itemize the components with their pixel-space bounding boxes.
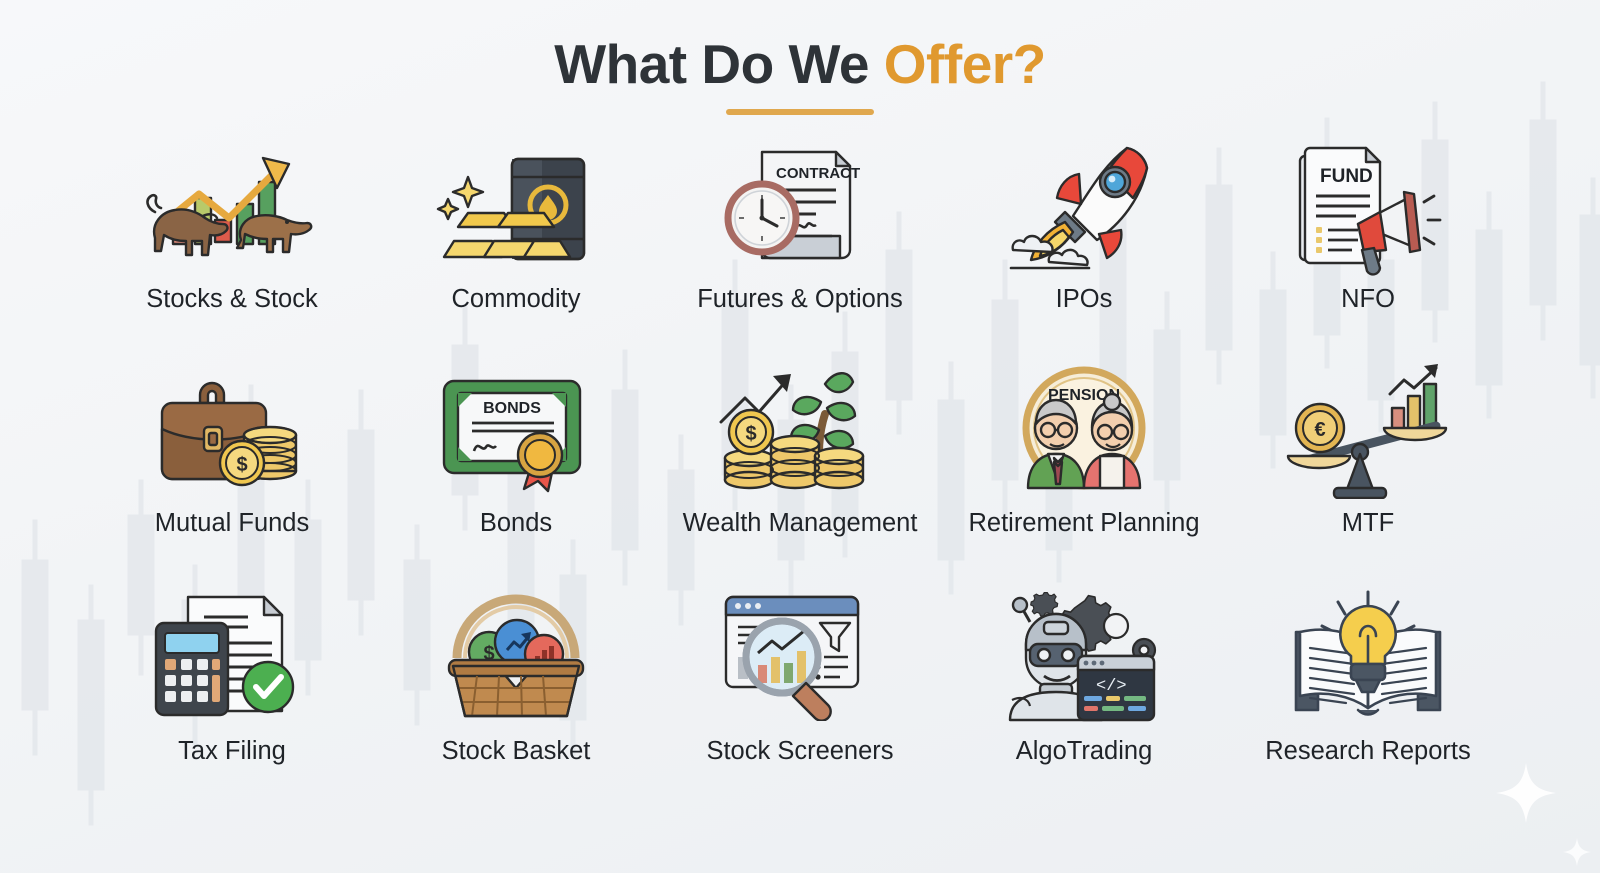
services-grid: Stocks & Stock xyxy=(90,133,1510,805)
briefcase-coins-icon: $ xyxy=(152,357,312,507)
service-label: Tax Filing xyxy=(178,737,286,766)
service-label: IPOs xyxy=(1056,285,1113,314)
service-label: Research Reports xyxy=(1265,737,1471,766)
sparkle-small-decoration-icon xyxy=(1562,837,1592,867)
title-underline xyxy=(726,109,874,115)
elderly-couple-pension-icon: PENSION xyxy=(1014,357,1154,507)
service-card-retirement-planning[interactable]: PENSION xyxy=(942,357,1226,581)
service-label: Stock Screeners xyxy=(706,737,893,766)
service-card-stocks[interactable]: Stocks & Stock xyxy=(90,133,374,357)
service-label: Mutual Funds xyxy=(155,509,310,538)
page-title-accent: Offer? xyxy=(884,33,1046,95)
rocket-launch-icon xyxy=(1009,133,1159,283)
svg-text:$: $ xyxy=(745,423,756,445)
service-card-futures-options[interactable]: CONTRACT xyxy=(658,133,942,357)
service-card-mtf[interactable]: € MTF xyxy=(1226,357,1510,581)
service-label: Wealth Management xyxy=(683,509,918,538)
service-label: Stock Basket xyxy=(442,737,591,766)
service-card-wealth-management[interactable]: $ Wealth Management xyxy=(658,357,942,581)
service-card-nfo[interactable]: FUND xyxy=(1226,133,1510,357)
service-card-algotrading[interactable]: </> AlgoTrading xyxy=(942,581,1226,805)
service-card-bonds[interactable]: BONDS Bonds xyxy=(374,357,658,581)
service-card-commodity[interactable]: Commodity xyxy=(374,133,658,357)
svg-text:BONDS: BONDS xyxy=(483,400,541,417)
service-card-stock-basket[interactable]: $ xyxy=(374,581,658,805)
gold-bars-oil-barrel-icon xyxy=(436,133,596,283)
coins-plant-growth-icon: $ xyxy=(715,357,885,507)
page-title-primary: What Do We xyxy=(554,33,884,95)
svg-text:€: € xyxy=(1314,419,1325,441)
service-label: Bonds xyxy=(480,509,552,538)
svg-text:CONTRACT: CONTRACT xyxy=(776,165,860,182)
service-card-research-reports[interactable]: Research Reports xyxy=(1226,581,1510,805)
fund-document-megaphone-icon: FUND xyxy=(1288,133,1448,283)
svg-text:FUND: FUND xyxy=(1320,166,1373,187)
service-card-mutual-funds[interactable]: $ Mutual Funds xyxy=(90,357,374,581)
robot-gears-code-icon: </> xyxy=(1004,581,1164,731)
service-label: MTF xyxy=(1342,509,1394,538)
service-label: AlgoTrading xyxy=(1016,737,1153,766)
service-label: Commodity xyxy=(452,285,581,314)
contract-clock-icon: CONTRACT xyxy=(720,133,880,283)
service-label: NFO xyxy=(1341,285,1395,314)
page-header: What Do We Offer? xyxy=(0,0,1600,115)
basket-stocks-icon: $ xyxy=(441,581,591,731)
balance-scale-chart-icon: € xyxy=(1286,357,1451,507)
bond-certificate-icon: BONDS xyxy=(436,357,596,507)
bull-bear-chart-icon xyxy=(137,133,327,283)
service-label: Stocks & Stock xyxy=(146,285,317,314)
service-card-ipos[interactable]: IPOs xyxy=(942,133,1226,357)
page-title: What Do We Offer? xyxy=(0,34,1600,95)
service-label: Futures & Options xyxy=(697,285,903,314)
svg-text:$: $ xyxy=(236,454,247,476)
calculator-document-check-icon xyxy=(152,581,312,731)
open-book-lightbulb-icon xyxy=(1288,581,1448,731)
service-card-tax-filing[interactable]: Tax Filing xyxy=(90,581,374,805)
service-card-stock-screeners[interactable]: Stock Screeners xyxy=(658,581,942,805)
svg-text:</>: </> xyxy=(1096,677,1127,696)
browser-magnifier-filter-icon xyxy=(720,581,880,731)
service-label: Retirement Planning xyxy=(968,509,1199,538)
